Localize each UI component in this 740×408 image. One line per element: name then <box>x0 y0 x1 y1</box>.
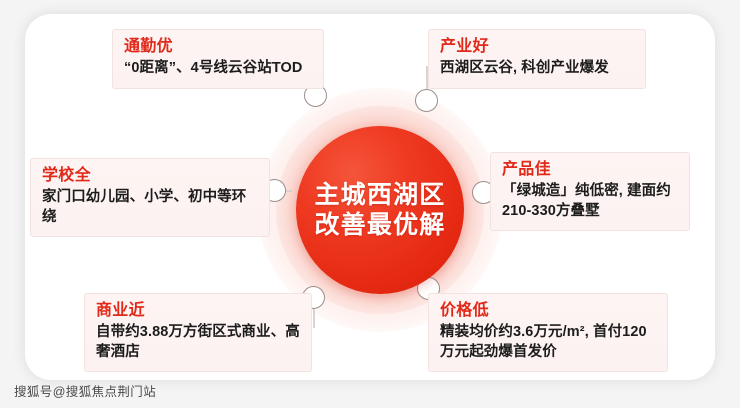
info-box-commute-title: 通勤优 <box>124 37 312 57</box>
stem-commerce <box>313 308 315 328</box>
info-box-commerce-title: 商业近 <box>96 301 300 321</box>
info-box-price-title: 价格低 <box>440 301 656 321</box>
info-box-school: 学校全 家门口幼儿园、小学、初中等环绕 <box>30 158 270 237</box>
watermark: 搜狐号@搜狐焦点荆门站 <box>14 381 156 400</box>
info-box-commute-body: “0距离”、4号线云谷站TOD <box>124 59 312 79</box>
info-box-commute: 通勤优 “0距离”、4号线云谷站TOD <box>112 29 324 89</box>
info-box-product-body: 「绿城造」纯低密, 建面约210-330方叠墅 <box>502 182 678 221</box>
info-box-industry: 产业好 西湖区云谷, 科创产业爆发 <box>428 29 646 89</box>
info-box-school-title: 学校全 <box>42 166 258 186</box>
info-box-product-title: 产品佳 <box>502 160 678 180</box>
hub-title-line-2: 改善最优解 <box>314 210 445 241</box>
info-box-commerce: 商业近 自带约3.88万方街区式商业、高奢酒店 <box>84 293 312 372</box>
info-box-industry-title: 产业好 <box>440 37 634 57</box>
info-box-industry-body: 西湖区云谷, 科创产业爆发 <box>440 59 634 79</box>
info-box-school-body: 家门口幼儿园、小学、初中等环绕 <box>42 188 258 227</box>
info-box-price: 价格低 精装均价约3.6万元/m², 首付120万元起劲爆首发价 <box>428 293 668 372</box>
infographic-canvas: 主城西湖区 改善最优解 通勤优 “0距离”、4号线云谷站TOD 产业好 西湖区云… <box>0 0 740 408</box>
info-box-commerce-body: 自带约3.88万方街区式商业、高奢酒店 <box>96 323 300 362</box>
info-box-price-body: 精装均价约3.6万元/m², 首付120万元起劲爆首发价 <box>440 323 656 362</box>
node-industry <box>415 89 438 112</box>
hub-title-line-1: 主城西湖区 <box>314 180 445 211</box>
central-hub: 主城西湖区 改善最优解 <box>296 126 464 294</box>
info-box-product: 产品佳 「绿城造」纯低密, 建面约210-330方叠墅 <box>490 152 690 231</box>
